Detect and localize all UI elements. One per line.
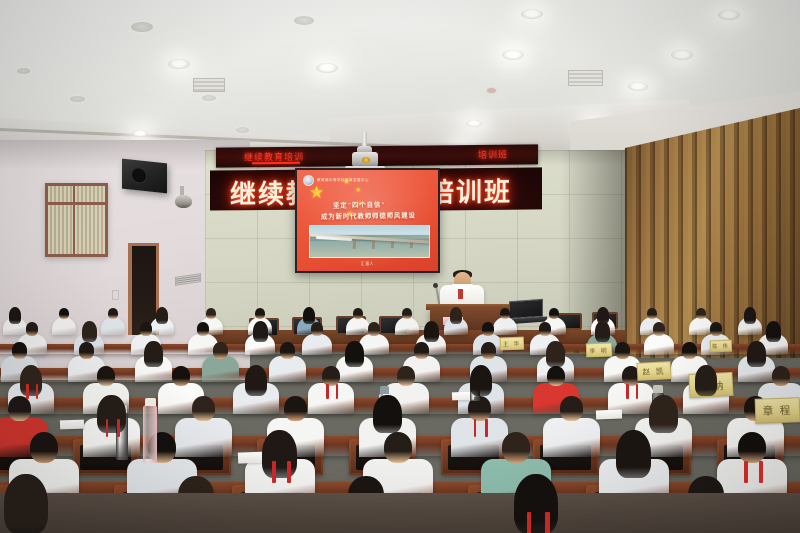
- audience-member-hair: [616, 430, 651, 478]
- audience-member-head: [280, 342, 295, 359]
- audience-member-hair: [747, 341, 766, 367]
- audience-member-head: [384, 432, 413, 463]
- downlight-off: [131, 22, 153, 32]
- downlight-off: [294, 16, 314, 25]
- audience-member-head: [108, 308, 118, 319]
- lanyard: [474, 419, 477, 437]
- floor: [0, 493, 800, 533]
- wall-switch-plate: [112, 290, 119, 300]
- slide-title-line-1: 坚定"四个自信": [333, 200, 386, 210]
- downlight-on: [671, 50, 693, 60]
- led-banner-main-right-text: 培训班: [428, 172, 512, 210]
- lanyard: [287, 461, 290, 483]
- downlight-on: [718, 10, 740, 20]
- audience-member-head: [311, 322, 323, 336]
- lanyard: [744, 461, 747, 483]
- projection-screen: ★★★★★ 教育局中等学校教育发展中心 坚定"四个自信" 成为新时代教师师德师风…: [295, 168, 440, 273]
- audience-member-hair: [262, 430, 297, 478]
- conference-room-photo: 继续教育培训 培训班 继续教 培训班 ★★★★★ 教育局中等学校教育发展中心 坚…: [0, 0, 800, 533]
- led-banner-upper-right-text: 培训班: [478, 148, 508, 161]
- audience-member-head: [397, 366, 415, 386]
- presenter-tie: [458, 289, 463, 299]
- audience-member-head: [549, 308, 559, 319]
- window-pane-left: [48, 186, 73, 254]
- lanyard: [117, 419, 120, 437]
- audience-member-head: [322, 366, 340, 386]
- projector-lens-icon: [362, 157, 370, 163]
- audience-member-hair: [695, 365, 717, 396]
- star-icon: ★: [309, 184, 324, 201]
- lanyard: [545, 512, 549, 533]
- audience-member-head: [26, 322, 38, 336]
- lanyard: [36, 384, 38, 398]
- downlight-on: [521, 9, 543, 19]
- bottle-cap: [653, 385, 663, 393]
- audience-member-head: [738, 432, 767, 463]
- lanyard: [626, 384, 628, 398]
- audience-member-head: [172, 366, 190, 386]
- lanyard: [336, 384, 338, 398]
- audience-member-hair: [97, 395, 125, 434]
- organization-seal-icon: [303, 175, 314, 186]
- desk-name-card: 陈 伟: [710, 340, 732, 353]
- led-banner-underline: [252, 162, 300, 165]
- audience-member-head: [696, 308, 706, 319]
- lanyard: [485, 419, 488, 437]
- audience-member-hair: [144, 341, 163, 367]
- audience-member-hair: [345, 341, 364, 367]
- audience-member-head: [653, 322, 665, 336]
- audience-member-head: [255, 308, 265, 319]
- slide-title-line-2: 成为新时代教师师德师风建设: [321, 210, 416, 221]
- downlight-off: [70, 96, 85, 102]
- audience-member-hair: [450, 307, 462, 324]
- slide-footer-text: 汇报人: [297, 262, 438, 267]
- audience-member-head: [140, 322, 152, 336]
- downlight-on: [316, 63, 338, 73]
- window-pane-right: [75, 186, 105, 254]
- lanyard: [106, 419, 109, 437]
- audience-member-head: [213, 342, 228, 359]
- audience-member-head: [502, 432, 531, 463]
- slide-organization-logo: 教育局中等学校教育发展中心: [303, 175, 369, 186]
- audience-member-head: [192, 396, 215, 421]
- audience-member-head: [30, 432, 59, 463]
- audience-member-hair: [4, 474, 48, 533]
- dome-camera-icon: [175, 195, 192, 208]
- led-banner-main-right: 培训班: [424, 167, 542, 210]
- audience-member-head: [284, 396, 307, 421]
- lanyard: [759, 461, 762, 483]
- audience-member-head: [59, 308, 69, 319]
- audience-member-head: [772, 366, 790, 386]
- audience-member-head: [539, 322, 551, 336]
- downlight-on: [628, 82, 648, 91]
- audience-member-hair: [514, 474, 558, 533]
- audience-member-head: [368, 322, 380, 336]
- audience-member-head: [682, 342, 697, 359]
- audience-member-head: [8, 396, 31, 421]
- audience-member-head: [615, 342, 630, 359]
- presentation-slide: ★★★★★ 教育局中等学校教育发展中心 坚定"四个自信" 成为新时代教师师德师风…: [297, 170, 438, 271]
- audience-member-hair: [82, 321, 97, 342]
- audience-member-hair: [424, 321, 439, 342]
- downlight-on: [466, 120, 482, 127]
- audience-member-hair: [546, 341, 565, 367]
- bottle-cap: [380, 386, 389, 394]
- lanyard: [527, 512, 531, 533]
- audience-member-head: [647, 308, 657, 319]
- handout-paper: [60, 420, 84, 430]
- desk-name-card: 赵 凯: [637, 361, 672, 381]
- audience-member-hair: [156, 307, 168, 324]
- lanyard: [326, 384, 328, 398]
- audience-member-head: [12, 342, 27, 359]
- downlight-off: [202, 95, 216, 101]
- audience-member-head: [482, 322, 494, 336]
- lanyard: [26, 384, 28, 398]
- audience-member-head: [97, 366, 115, 386]
- audience-member-head: [500, 308, 510, 319]
- slide-bridge-photo: [309, 225, 430, 258]
- audience-member-hair: [373, 395, 401, 434]
- audience-member-hair: [766, 321, 781, 342]
- ceiling-vent: [193, 78, 225, 92]
- wall-speaker: [122, 159, 167, 194]
- downlight-off: [17, 68, 30, 74]
- window: [45, 183, 108, 257]
- downlight-on: [132, 130, 148, 137]
- audience-member-head: [206, 308, 216, 319]
- microphone-icon: [433, 283, 438, 288]
- smoke-detector-icon: [487, 88, 496, 93]
- audience-member-head: [547, 366, 565, 386]
- audience-member-hair: [9, 307, 21, 324]
- audience-member-hair: [470, 365, 492, 396]
- slide-org-text: 教育局中等学校教育发展中心: [317, 178, 369, 183]
- lanyard: [272, 461, 275, 483]
- audience-member-hair: [245, 365, 267, 396]
- desk-name-card: 李 明: [586, 343, 612, 358]
- audience-member-head: [402, 308, 412, 319]
- downlight-on: [168, 59, 190, 69]
- audience-member-hair: [253, 321, 268, 342]
- water-bottle: [143, 405, 157, 463]
- audience-member-head: [710, 322, 722, 336]
- speaker-cone-icon: [131, 167, 147, 185]
- audience-member-head: [79, 342, 94, 359]
- desk-name-card: 章 程: [755, 397, 800, 424]
- audience-member-head: [414, 342, 429, 359]
- audience-member-head: [560, 396, 583, 421]
- audience-member-head: [353, 308, 363, 319]
- audience-member-hair: [20, 365, 42, 396]
- ceiling-vent: [568, 70, 603, 86]
- window-transom: [48, 202, 105, 205]
- desk-name-card: 王 华: [500, 337, 524, 351]
- downlight-off: [236, 127, 249, 133]
- lanyard: [636, 384, 638, 398]
- audience-member-head: [197, 322, 209, 336]
- audience-member-hair: [303, 307, 315, 324]
- audience-member-head: [481, 342, 496, 359]
- bottle-cap: [145, 398, 156, 406]
- audience-member-hair: [649, 395, 677, 434]
- audience-member-hair: [595, 321, 610, 342]
- audience-member-hair: [744, 307, 756, 324]
- photo-bridge-pier: [353, 238, 357, 249]
- star-icon: ★: [355, 187, 361, 194]
- handout-paper: [596, 410, 622, 420]
- downlight-on: [502, 50, 524, 60]
